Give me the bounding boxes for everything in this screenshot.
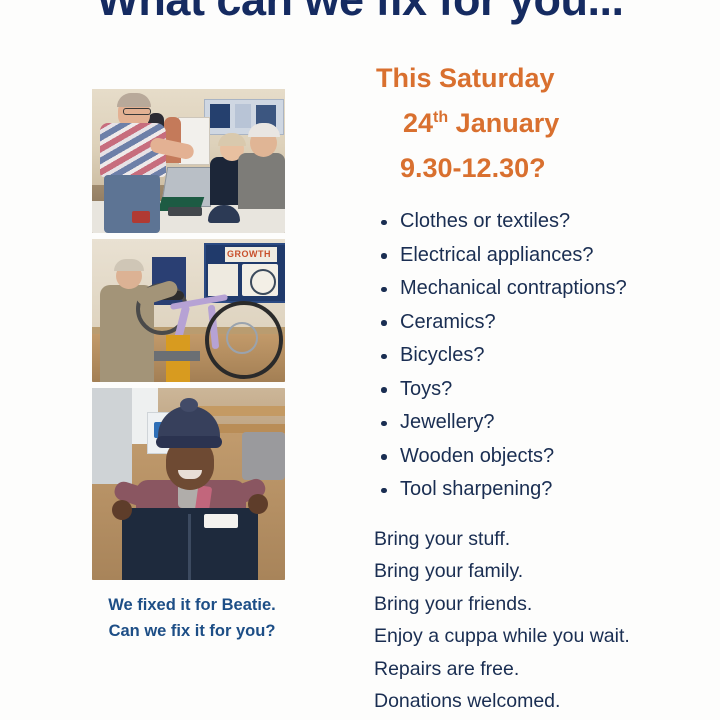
list-item: Clothes or textiles? [368,205,720,239]
photo-caption: We fixed it for Beatie. Can we fix it fo… [92,592,292,644]
list-item: Toys? [368,373,720,407]
closing-line: Bring your family. [374,555,720,588]
beanie-pompom [180,398,198,412]
bicycle-rear-hub [226,322,258,354]
event-time-label: 9.30-12.30? [368,146,720,191]
stacked-chair [242,432,285,480]
beanie-brim [156,436,222,448]
details-column: This Saturday 24th January 9.30-12.30? C… [368,56,720,718]
bicycle-repair-photo: GROWTH [92,239,285,382]
hand-tools [168,207,202,216]
closing-line: Bring your friends. [374,588,720,621]
photo-column: GROWTH [92,89,285,580]
repair-ticket-label [204,514,238,528]
list-item: Jewellery? [368,406,720,440]
closing-message: Bring your stuff. Bring your family. Bri… [368,523,720,718]
growth-poster-text: GROWTH [227,247,275,262]
board-poster-a [210,104,230,128]
closing-line: Donations welcomed. [374,685,720,718]
caption-line-1: We fixed it for Beatie. [92,592,292,618]
event-month: January [456,108,560,138]
bike-volunteer-hair [114,259,144,271]
closing-line: Enjoy a cuppa while you wait. [374,620,720,653]
beatie-jacket-photo [92,388,285,580]
repairable-items-list: Clothes or textiles? Electrical applianc… [368,205,720,507]
list-item: Wooden objects? [368,440,720,474]
repair-cafe-poster: What can we fix for you... [0,0,720,720]
page-title: What can we fix for you... [0,0,720,26]
closing-line: Repairs are free. [374,653,720,686]
event-date-label: 24th January [368,101,720,146]
volunteer-glasses [123,108,151,115]
repair-table-photo [92,89,285,233]
list-item: Ceramics? [368,306,720,340]
event-when: This Saturday 24th January 9.30-12.30? [368,56,720,191]
noticeboard-poster-2 [208,264,238,296]
jacket-zip [188,514,191,580]
volunteer-jeans [104,175,160,233]
background-person-1 [92,388,132,484]
event-date-number: 24 [403,108,433,138]
beatie-right-hand [248,494,268,514]
closing-line: Bring your stuff. [374,523,720,556]
event-date-suffix: th [433,109,448,126]
seated-visitor-2-body [238,153,285,209]
list-item: Bicycles? [368,339,720,373]
poster-logo-circle [250,269,276,295]
list-item: Tool sharpening? [368,473,720,507]
repair-stand-base [154,351,200,361]
beatie-left-hand [112,500,132,520]
list-item: Electrical appliances? [368,239,720,273]
list-item: Mechanical contraptions? [368,272,720,306]
caption-line-2: Can we fix it for you? [92,618,292,644]
board-poster-b [235,104,251,128]
event-day-label: This Saturday [368,56,720,101]
red-toolbox [132,211,150,223]
